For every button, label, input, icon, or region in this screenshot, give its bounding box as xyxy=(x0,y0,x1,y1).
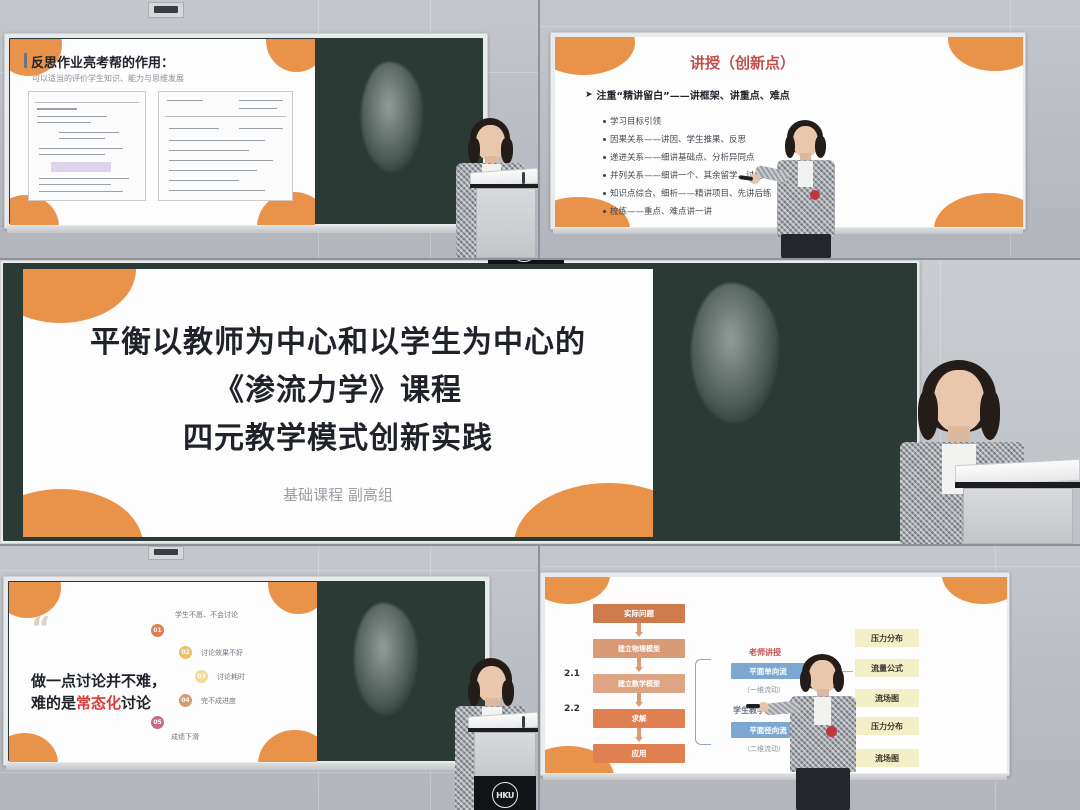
panel-top-left: 反思作业亮考帮的作用： 可以适当的评价学生知识、能力与思维发展 xyxy=(0,0,538,258)
slide-lead-text: 注重“精讲留白”——讲框架、讲重点、难点 xyxy=(597,87,790,102)
item-number: 03 xyxy=(195,670,208,683)
item-number: 01 xyxy=(151,624,164,637)
branch-brace xyxy=(695,659,711,745)
flow-step: 建立物理模型 xyxy=(593,639,685,658)
presenter-standing xyxy=(772,654,882,810)
video-grid: 反思作业亮考帮的作用： 可以适当的评价学生知识、能力与思维发展 xyxy=(0,0,1080,810)
slide-title: 讲授（创新点） xyxy=(690,52,795,73)
flow-step: 求解 xyxy=(593,709,685,728)
handwritten-notes-thumb-1 xyxy=(28,91,146,201)
title-line-2: 《渗流力学》课程 xyxy=(214,365,462,409)
arrow-icon: ➤ xyxy=(585,90,593,100)
item-number: 05 xyxy=(151,716,164,729)
board-tray xyxy=(6,763,487,770)
bullet-dot xyxy=(603,120,606,123)
panel-bottom-left: “ 做一点讨论并不难， 难的是常态化讨论 学生不愿、不会讨论 01 02 讨论效… xyxy=(0,546,538,810)
bullet-dot xyxy=(603,210,606,213)
quote-mark-icon: “ xyxy=(31,614,51,644)
flow-arrow-icon xyxy=(635,737,643,742)
wall-speaker xyxy=(148,2,184,18)
bullet-item: 梳练——重点、难点讲一讲 xyxy=(603,205,712,217)
panel-center: 平衡以教师为中心和以学生为中心的 《渗流力学》课程 四元教学模式创新实践 基础课… xyxy=(0,260,1080,544)
title-line-3: 四元教学模式创新实践 xyxy=(183,413,493,457)
grid-divider xyxy=(538,546,540,810)
headline-line-1: 做一点讨论并不难， xyxy=(31,670,166,691)
bullet-dot xyxy=(603,174,606,177)
step-number: 2.1 xyxy=(564,669,580,679)
output-box: 压力分布 xyxy=(855,629,919,647)
item-label: 完不成进度 xyxy=(201,696,236,706)
laser-pointer xyxy=(746,704,760,708)
wall-seam xyxy=(0,570,538,571)
grid-divider xyxy=(538,0,540,258)
bullet-label: 学习目标引领 xyxy=(610,115,661,127)
headline-prefix: 难的是 xyxy=(31,694,76,712)
bullet-dot xyxy=(603,138,606,141)
bullet-label: 梳练——重点、难点讲一讲 xyxy=(610,205,712,217)
wall-speaker xyxy=(148,546,184,560)
podium xyxy=(470,170,538,258)
item-label: 成绩下滑 xyxy=(171,732,199,742)
wall-seam xyxy=(540,26,1080,27)
grid-divider xyxy=(0,258,1080,260)
bullet-item: 因果关系——讲因、学生推果、反思 xyxy=(603,133,746,145)
smartboard-frame: 反思作业亮考帮的作用： 可以适当的评价学生知识、能力与思维发展 xyxy=(4,33,488,229)
podium: HKU xyxy=(468,714,538,810)
slide-title: 反思作业亮考帮的作用： xyxy=(31,52,174,71)
slide-subtitle: 可以适当的评价学生知识、能力与思维发展 xyxy=(32,73,184,84)
headline-line-2: 难的是常态化讨论 xyxy=(31,692,151,713)
bullet-label: 知识点综合、细析——精讲项目、先讲后练 xyxy=(610,187,772,199)
bullet-item: 递进关系——细讲基础点、分析异同点 xyxy=(603,151,755,163)
bullet-item: 学习目标引领 xyxy=(603,115,661,127)
bullet-dot xyxy=(603,156,606,159)
item-number: 04 xyxy=(179,694,192,707)
flow-step: 应用 xyxy=(593,744,685,763)
slide-footer: 基础课程 副高组 xyxy=(283,484,393,505)
wall-seam xyxy=(540,566,1080,567)
handwritten-notes-thumb-2 xyxy=(158,91,293,201)
flow-arrow-icon xyxy=(635,702,643,707)
item-label: 讨论效果不好 xyxy=(201,648,243,658)
projection-screen: “ 做一点讨论并不难， 难的是常态化讨论 学生不愿、不会讨论 01 02 讨论效… xyxy=(9,582,317,762)
grid-divider xyxy=(0,544,1080,546)
title-line-1: 平衡以教师为中心和以学生为中心的 xyxy=(90,317,586,361)
flow-arrow-icon xyxy=(635,667,643,672)
board-tray xyxy=(7,226,485,233)
slide-lead: ➤ 注重“精讲留白”——讲框架、讲重点、难点 xyxy=(585,87,790,102)
smartboard-frame: “ 做一点讨论并不难， 难的是常态化讨论 学生不愿、不会讨论 01 02 讨论效… xyxy=(3,576,490,766)
step-number: 2.2 xyxy=(564,704,580,714)
flow-arrow-icon xyxy=(635,632,643,637)
title-accent-bar xyxy=(24,53,27,68)
projection-screen: 反思作业亮考帮的作用： 可以适当的评价学生知识、能力与思维发展 xyxy=(10,39,315,225)
projection-screen: 平衡以教师为中心和以学生为中心的 《渗流力学》课程 四元教学模式创新实践 基础课… xyxy=(23,269,653,537)
bullet-item: 知识点综合、细析——精讲项目、先讲后练 xyxy=(603,187,772,199)
podium xyxy=(955,462,1080,544)
item-label: 学生不愿、不会讨论 xyxy=(175,610,238,620)
bullet-label: 因果关系——讲因、学生推果、反思 xyxy=(610,133,746,145)
panel-top-right: 讲授（创新点） ➤ 注重“精讲留白”——讲框架、讲重点、难点 学习目标引领 因果… xyxy=(540,0,1080,258)
panel-bottom-right: 2.1 2.2 实际问题 建立物理模型 建立数学模型 求解 应用 xyxy=(540,546,1080,810)
bullet-dot xyxy=(603,192,606,195)
item-number: 02 xyxy=(179,646,192,659)
item-label: 讨论耗时 xyxy=(217,672,245,682)
smartboard-frame: 平衡以教师为中心和以学生为中心的 《渗流力学》课程 四元教学模式创新实践 基础课… xyxy=(0,260,920,544)
presenter-standing xyxy=(755,120,851,258)
headline-suffix: 讨论 xyxy=(121,694,151,712)
flow-step: 实际问题 xyxy=(593,604,685,623)
flow-step: 建立数学模型 xyxy=(593,674,685,693)
podium-logo: HKU xyxy=(492,782,518,808)
headline-accent: 常态化 xyxy=(76,694,121,712)
bullet-label: 递进关系——细讲基础点、分析异同点 xyxy=(610,151,755,163)
